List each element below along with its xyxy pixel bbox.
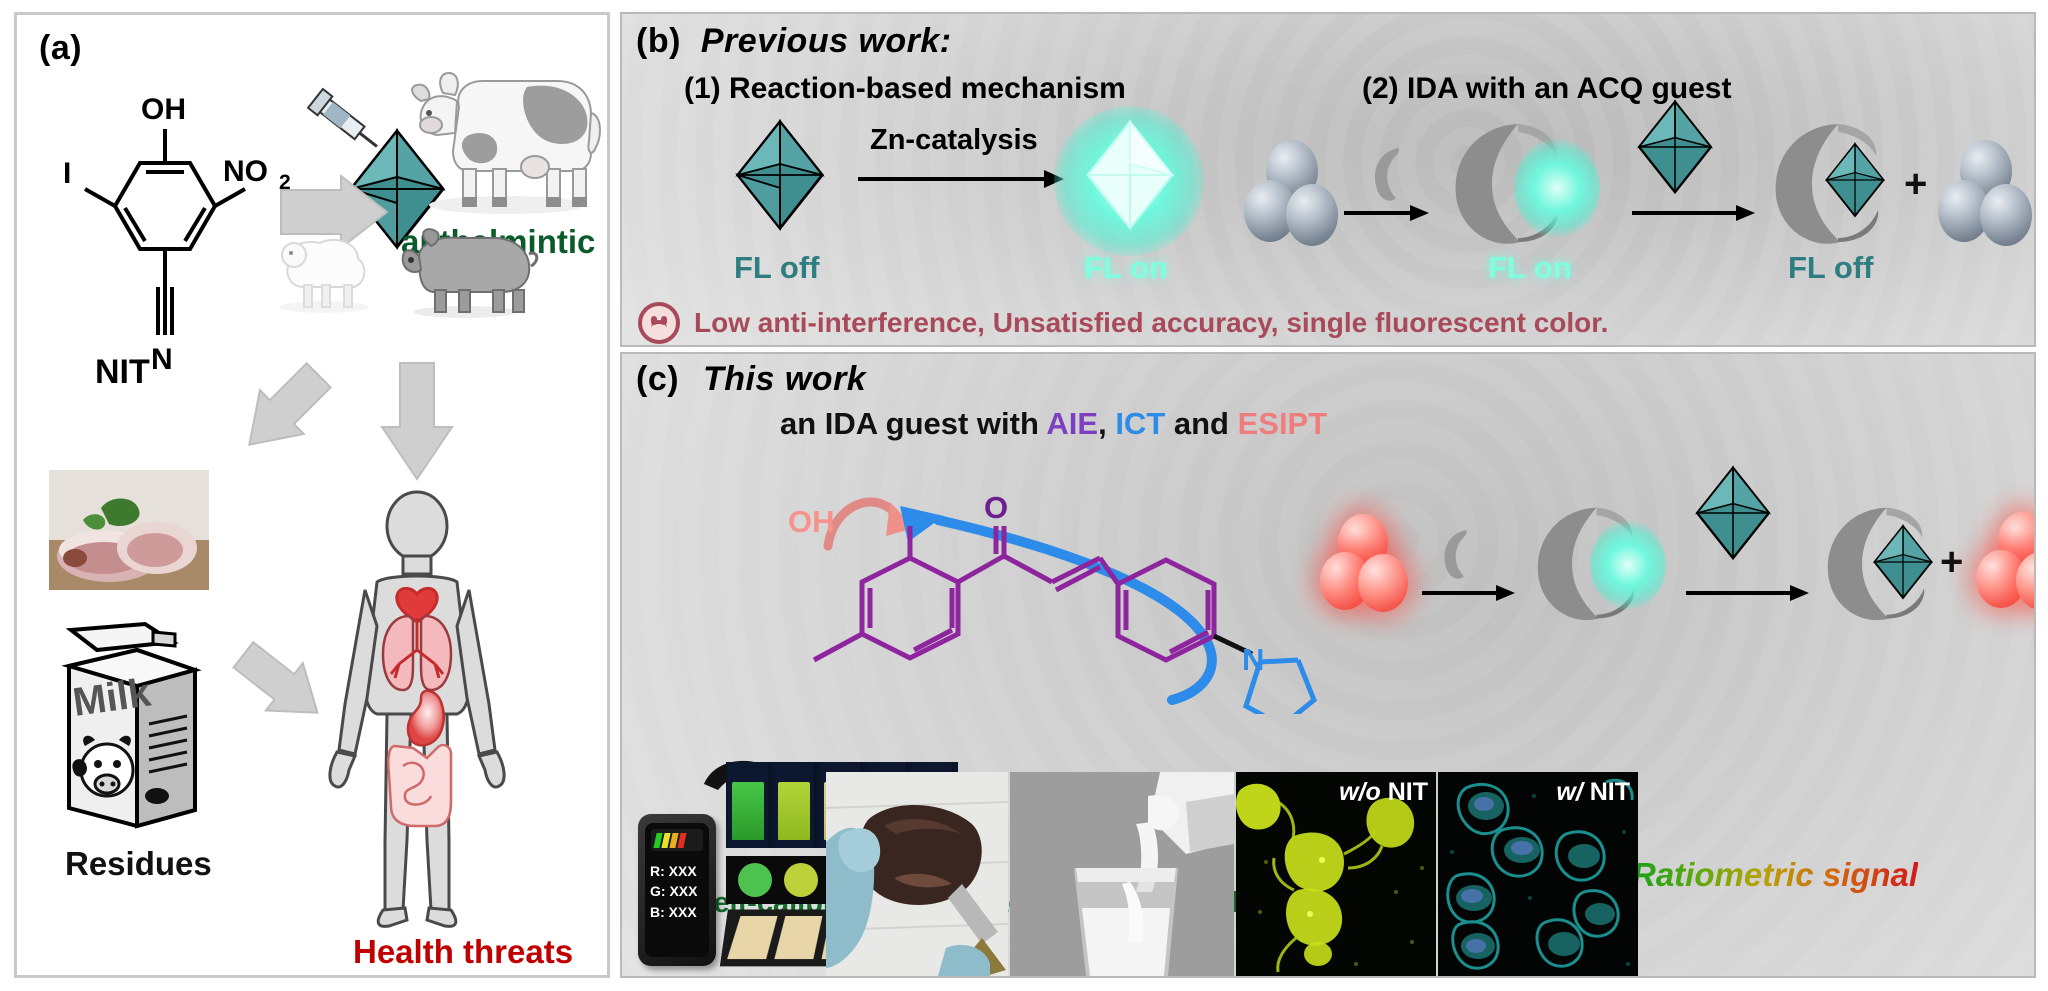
w-italic: w/ [1556,778,1582,806]
limitations-row: Low anti-interference, Unsatisfied accur… [638,302,1608,344]
panel-b-tag-text: (b) [636,22,681,60]
wo-italic: w/o [1339,778,1381,806]
phone-screen: R: XXX G: XXX B: XXX [645,823,709,957]
rgb-readout: R: XXX G: XXX B: XXX [650,861,697,922]
fl-off-label-2: FL off [1788,250,1874,286]
arrow-to-residues [229,355,339,470]
panel-c-tag: (c) This work [636,360,866,399]
nit-structure: OH I NO 2 N [45,73,295,363]
zn-catalysis-label: Zn-catalysis [870,124,1038,157]
octahedron-fl-on-icon [1084,118,1176,237]
syringe-icon [299,75,389,170]
milk-carton-icon: Milk [45,620,220,835]
rgb-r-value: R: XXX [650,861,697,881]
cyan-emission-glow [1590,520,1666,610]
arrow-to-human [372,355,462,490]
octahedron-analyte-icon [1636,98,1714,201]
reaction-arrow-c1 [1422,582,1516,609]
octahedron-fl-off-icon [734,118,826,237]
meat-photo [49,470,209,590]
svg-text:N: N [151,343,173,373]
reaction-arrow-2 [1344,202,1430,229]
panel-c-title: This work [703,360,866,398]
application-photo-strip: R: XXX G: XXX B: XXX [622,772,2034,976]
esipt-label: ESIPT [1238,406,1328,441]
panel-a: (a) OH I NO [14,12,610,978]
panel-b-sub1: (1) Reaction-based mechanism [684,72,1126,106]
aie-label: AIE [1046,406,1098,441]
limitations-text: Low anti-interference, Unsatisfied accur… [694,307,1608,339]
rgb-b-value: B: XXX [650,902,697,922]
host-macrocycle-empty-icon-c [1438,524,1486,591]
svg-text:I: I [63,157,71,190]
cow-image [407,37,607,222]
panel-c-subtitle: an IDA guest with AIE, ICT and ESIPT [780,406,1327,442]
sad-face-icon [638,302,680,344]
panel-c-tag-text: (c) [636,360,679,398]
cell-imaging-without-nit: w/o NIT [1236,772,1436,976]
cell-label-without-nit: w/o NIT [1339,778,1428,807]
svg-text:OH: OH [141,93,186,126]
rgb-g-value: G: XXX [650,881,697,901]
carbonyl-o-label: O [984,490,1008,525]
panel-b-tag: (b) Previous work: [636,22,952,61]
octahedron-bound-icon [1824,140,1886,225]
wo-rest: NIT [1381,778,1428,806]
chocolate-sample-photo [826,772,1008,976]
rgb-color-bar [651,829,703,851]
aie-molecule-structure: OH O N [762,454,1382,719]
milk-pouring-photo [1010,772,1234,976]
fl-on-label-2: FL on [1488,250,1572,286]
graphical-abstract: (a) OH I NO [0,0,2048,991]
octahedron-nit-icon-c [1694,464,1772,567]
plus-sign-b: + [1904,162,1927,207]
subtitle-part-3: and [1165,406,1237,441]
reaction-arrow-3 [1632,202,1756,229]
residues-label: Residues [65,845,212,883]
nitrogen-label: N [1242,642,1264,677]
oh-label: OH [788,504,835,539]
w-rest: NIT [1583,778,1630,806]
reaction-arrow-c2 [1686,582,1810,609]
pig-image [389,220,539,320]
svg-text:NO: NO [223,155,268,188]
octahedron-bound-icon-c [1872,522,1934,607]
plus-sign-c: + [1940,540,1963,585]
smartphone-rgb-reader[interactable]: R: XXX G: XXX B: XXX [638,814,716,966]
panel-a-tag: (a) [39,29,82,68]
reaction-arrow-1 [858,166,1066,197]
panel-b: (b) Previous work: (1) Reaction-based me… [620,12,2036,347]
panel-c: (c) This work an IDA guest with AIE, ICT… [620,352,2036,978]
fl-on-label-1: FL on [1084,250,1168,286]
panel-b-title: Previous work: [701,22,952,60]
ict-label: ICT [1115,406,1165,441]
human-body-diagram [317,490,517,930]
sheep-image [262,225,387,315]
health-threats-label: Health threats [353,933,573,971]
subtitle-part-1: an IDA guest with [780,406,1046,441]
fl-on-glow-2 [1514,138,1600,238]
subtitle-part-2: , [1098,406,1115,441]
fl-off-label-1: FL off [734,250,820,286]
cell-label-with-nit: w/ NIT [1556,778,1630,807]
nit-label: NIT [95,353,150,392]
cell-imaging-with-nit: w/ NIT [1438,772,1638,976]
